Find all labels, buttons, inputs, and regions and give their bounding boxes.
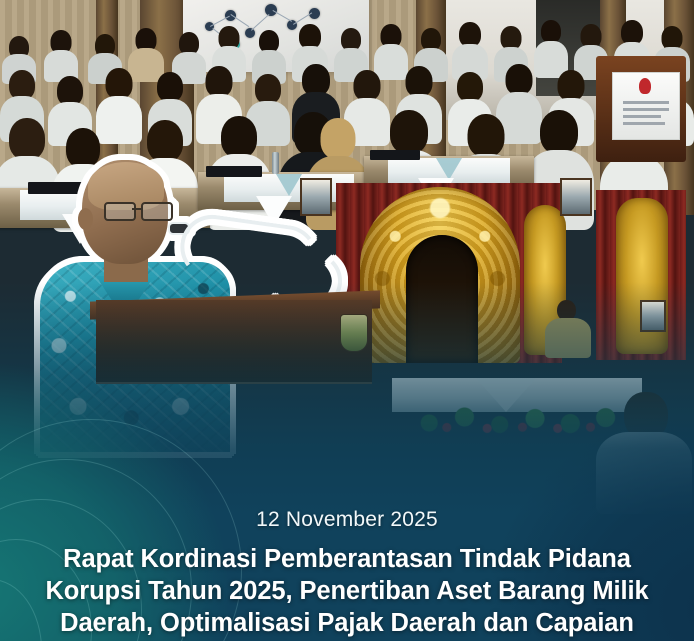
poster-text-block: 12 November 2025 Rapat Kordinasi Pembera… (0, 508, 694, 641)
event-poster: 12 November 2025 Rapat Kordinasi Pembera… (0, 0, 694, 641)
event-title: Rapat Kordinasi Pemberantasan Tindak Pid… (10, 543, 684, 639)
event-title-line-2: Korupsi Tahun 2025, Penertiban Aset Bara… (10, 575, 684, 607)
event-title-line-3: Daerah, Optimalisasi Pajak Daerah dan Ca… (10, 607, 684, 639)
event-title-line-1: Rapat Kordinasi Pemberantasan Tindak Pid… (10, 543, 684, 575)
event-date: 12 November 2025 (10, 508, 684, 532)
